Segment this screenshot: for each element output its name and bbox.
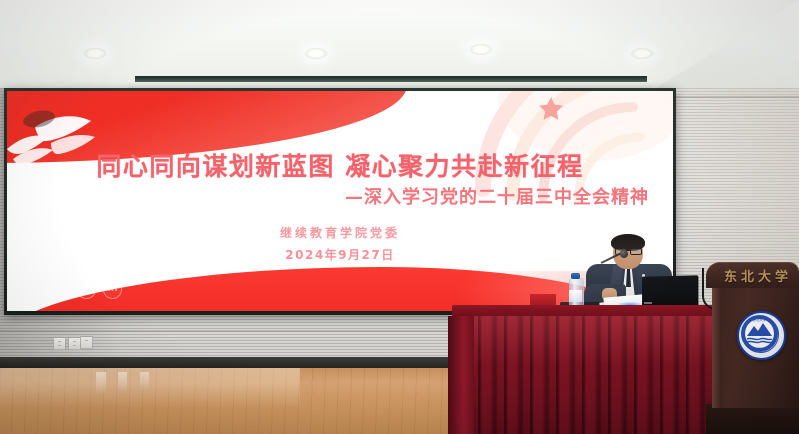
wall-outlet [53, 337, 66, 350]
more-options-icon[interactable] [103, 280, 122, 299]
zoom-in-icon[interactable] [77, 280, 96, 299]
slide-overview-icon[interactable] [51, 280, 70, 299]
slide-date: 2024年9月27日 [7, 246, 673, 263]
laser-pointer-icon[interactable] [7, 280, 18, 299]
floor-light-reflection [96, 372, 166, 394]
water-bottle-cap [571, 273, 580, 279]
pen-icon[interactable] [25, 280, 44, 299]
ceiling-downlight [631, 48, 653, 59]
laptop-logo [644, 302, 652, 304]
lecture-hall-photo: 同心同向谋划新蓝图 凝心聚力共赴新征程 —深入学习党的二十届三中全会精神 继续教… [0, 0, 799, 434]
svg-text:1923: 1923 [756, 347, 763, 351]
ceiling-air-vent [135, 76, 647, 82]
water-bottle-label [569, 290, 582, 302]
microphone-icon [620, 250, 628, 258]
slide-subtitle: —深入学习党的二十届三中全会精神 [345, 183, 649, 209]
desk-skirt-fold [448, 316, 474, 434]
podium-inscription: 东北大学 [724, 266, 799, 284]
glasses-icon [630, 248, 642, 255]
ceiling-downlight [470, 44, 492, 55]
slide-title: 同心同向谋划新蓝图 凝心聚力共赴新征程 [7, 147, 673, 183]
ceiling-downlight [84, 48, 106, 59]
ceiling-downlight [305, 48, 327, 59]
podium-edge [712, 286, 722, 408]
university-emblem: 东北大学 1923 [737, 311, 786, 360]
svg-text:东北大学: 东北大学 [753, 317, 767, 322]
slide-organization: 继续教育学院党委 [7, 224, 673, 241]
wall-outlet [80, 336, 93, 349]
presentation-toolbar[interactable] [7, 280, 122, 299]
podium-base [706, 404, 799, 434]
